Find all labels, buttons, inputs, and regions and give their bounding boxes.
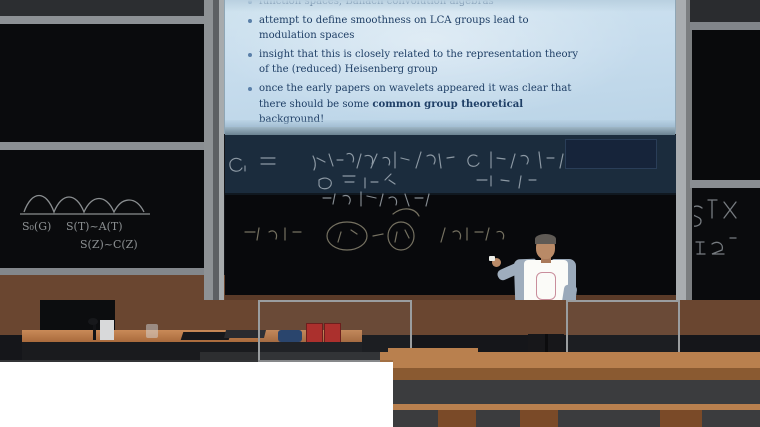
ceiling-strip-left: [0, 0, 224, 16]
chair: [520, 408, 558, 427]
screen-top-fade: [225, 0, 675, 12]
slide-bullet: insight that this is closely related to …: [246, 47, 666, 78]
board-rail-bottom-left: [0, 268, 224, 275]
microphone-head: [88, 318, 98, 325]
chalk-handwriting-right: [694, 192, 760, 262]
chalk-sketch-left: S₀(G) S(T)~A(T) S(Z)~C(Z): [18, 168, 158, 258]
svg-text:S(T)~A(T): S(T)~A(T): [66, 220, 123, 233]
speaker-shirt-detail: [536, 272, 556, 300]
board-rail-top-right: [690, 22, 760, 30]
drinking-glass: [146, 324, 158, 338]
slide-content: function spaces, Banach convolution alge…: [246, 0, 666, 131]
svg-text:S(Z)~C(Z): S(Z)~C(Z): [80, 238, 138, 251]
chalk-handwriting-main: [225, 140, 677, 290]
board-rail-top-left: [0, 16, 224, 24]
ceiling-strip-right: [690, 0, 760, 22]
blackboard-left-upper: [0, 24, 222, 142]
wall-pillar-left-highlight: [219, 0, 224, 300]
svg-text:S₀(G): S₀(G): [22, 220, 51, 233]
chair: [438, 408, 476, 427]
chalk-in-hand: [489, 256, 495, 261]
screen-bottom-edge: [225, 127, 675, 135]
lower-third-banner: 50 YEARS OF WAVELETS: IMPACT & FUTURE Wa…: [0, 362, 393, 427]
wall-pillar-right: [676, 0, 686, 310]
board-rail-mid-right: [690, 180, 760, 188]
chair: [660, 408, 702, 427]
blackboard-right-upper: [692, 30, 760, 180]
audience-desk-lower: [380, 404, 760, 410]
audience-desk-upper: [388, 348, 478, 356]
speaker-hair: [535, 234, 556, 244]
wall-pillar-left: [204, 0, 213, 300]
lecture-screenshot: S₀(G) S(T)~A(T) S(Z)~C(Z) function space…: [0, 0, 760, 427]
slide-bullet: attempt to define smoothness on LCA grou…: [246, 13, 666, 44]
board-rail-mid-left: [0, 142, 224, 150]
monitor-stand: [100, 320, 114, 340]
slide-bold-phrase: common group theoretical: [372, 99, 523, 110]
audience-desk-front: [380, 368, 760, 380]
